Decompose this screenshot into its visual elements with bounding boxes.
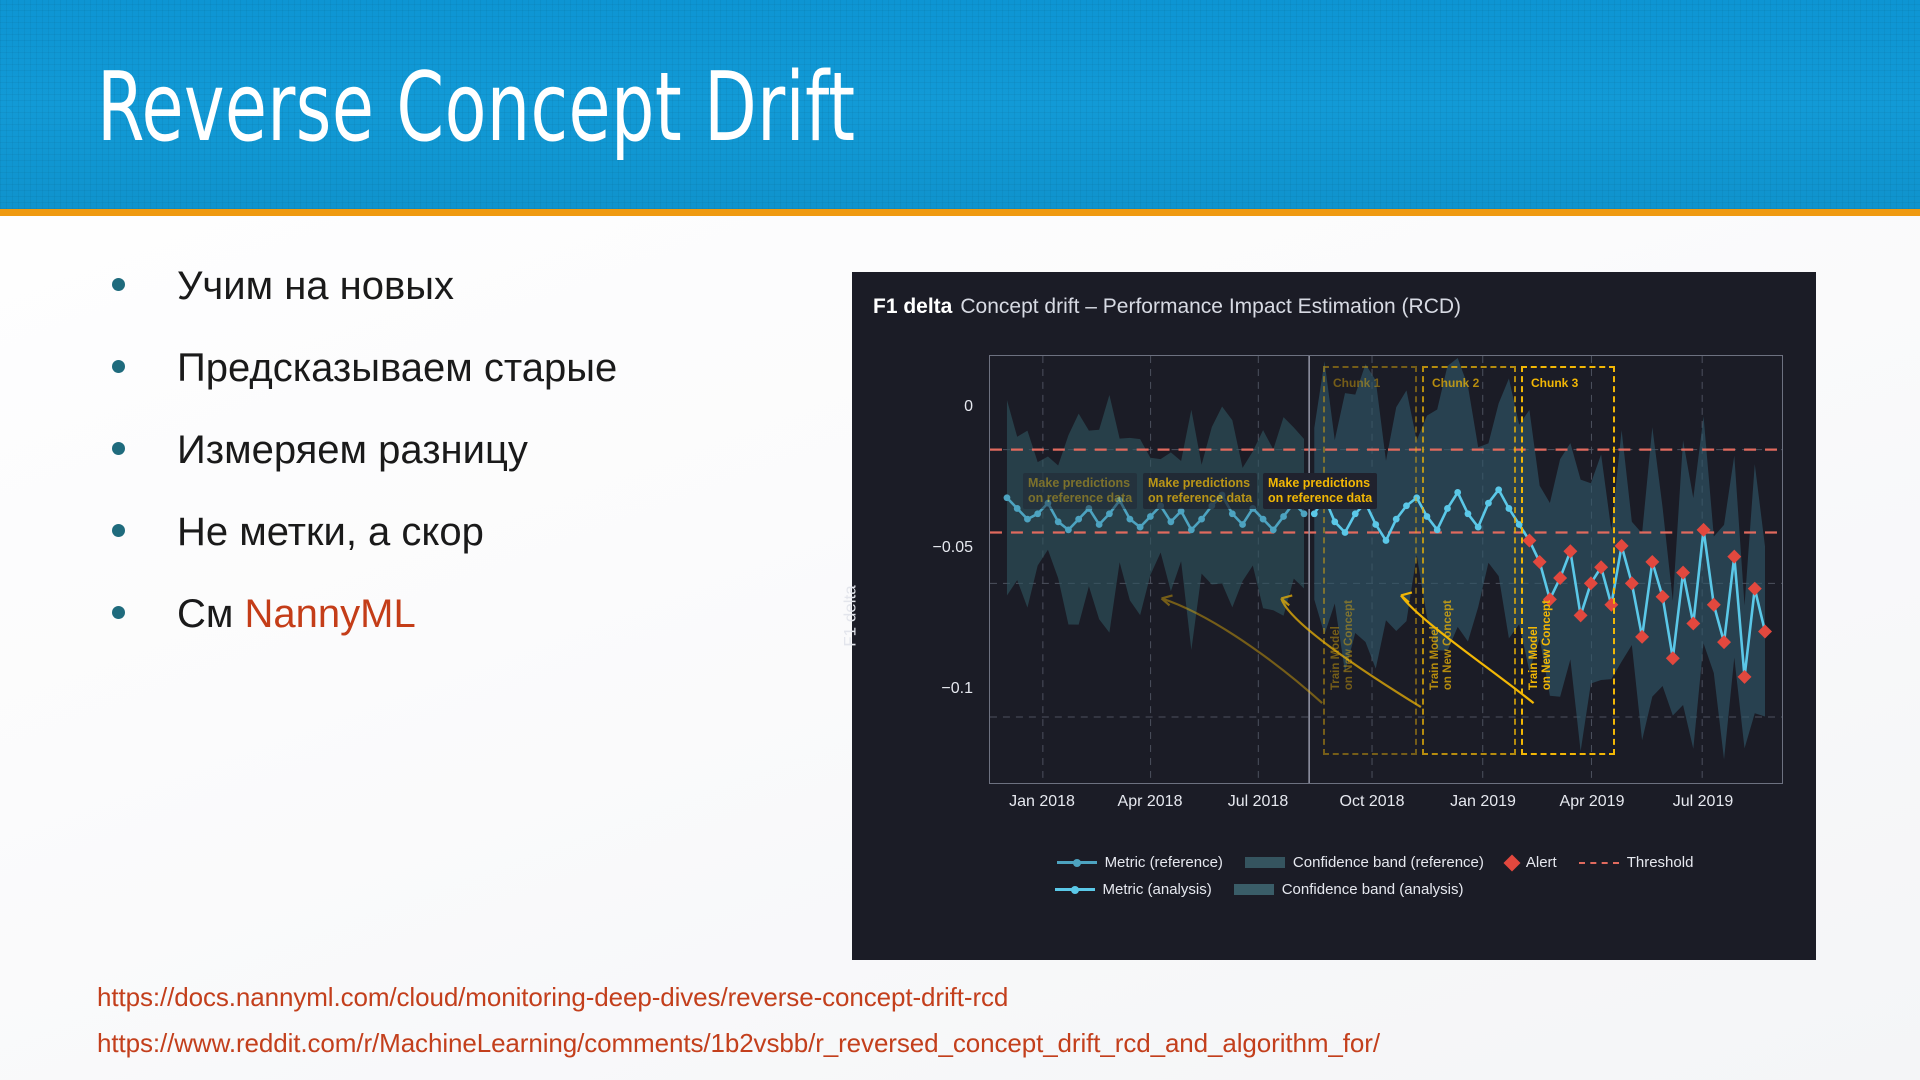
legend-item-metric-reference[interactable]: Metric (reference) xyxy=(1057,854,1223,871)
annotation-line2: on New Concept xyxy=(1541,600,1553,690)
list-item: Измеряем разницу xyxy=(112,426,832,508)
annotation-line1: Train Model xyxy=(1528,626,1540,690)
y-tick-label: −0.1 xyxy=(941,680,973,698)
chart-subtitle: Concept drift – Performance Impact Estim… xyxy=(960,295,1461,318)
list-item: Предсказываем старые xyxy=(112,344,832,426)
x-tick-label: Apr 2019 xyxy=(1560,793,1625,811)
legend-label: Threshold xyxy=(1627,854,1694,871)
legend-label: Metric (reference) xyxy=(1105,854,1223,871)
header-accent-rule xyxy=(0,209,1920,216)
annotation-line1: Make predictions xyxy=(1148,476,1252,491)
make-predictions-annotation: Make predictions on reference data xyxy=(1143,473,1257,509)
bullet-text: Измеряем разницу xyxy=(177,426,528,474)
train-model-annotation: Train Modelon New Concept xyxy=(1528,600,1554,690)
x-tick-label: Jul 2019 xyxy=(1673,793,1734,811)
bullet-text: См NannyML xyxy=(177,590,416,638)
annotation-line2: on reference data xyxy=(1268,491,1372,506)
annotation-line2: on reference data xyxy=(1028,491,1132,506)
chunk-label: Chunk 2 xyxy=(1432,376,1479,390)
slide-header: Reverse Concept Drift xyxy=(0,0,1920,209)
bullet-text: Не метки, а скор xyxy=(177,508,484,556)
annotation-line1: Train Model xyxy=(1429,626,1441,690)
chart-legend: Metric (reference) Confidence band (refe… xyxy=(989,849,1783,903)
plot-area: Chunk 1 Chunk 2 Chunk 3 Make predictions… xyxy=(989,355,1783,784)
chunk-label: Chunk 3 xyxy=(1531,376,1578,390)
annotation-line1: Train Model xyxy=(1330,626,1342,690)
legend-label: Confidence band (analysis) xyxy=(1282,881,1464,898)
annotation-line1: Make predictions xyxy=(1028,476,1132,491)
chunk-box xyxy=(1422,366,1516,755)
y-tick-label: 0 xyxy=(964,398,973,416)
band-swatch-icon xyxy=(1234,884,1274,895)
y-axis-label: F1 delta xyxy=(841,585,861,646)
bullet-prefix: См xyxy=(177,592,245,636)
bullet-text: Предсказываем старые xyxy=(177,344,617,392)
annotation-line2: on reference data xyxy=(1148,491,1252,506)
legend-label: Confidence band (reference) xyxy=(1293,854,1484,871)
bullet-dot-icon xyxy=(112,524,125,537)
x-tick-label: Jan 2019 xyxy=(1450,793,1516,811)
chart-metric-name: F1 delta xyxy=(873,295,952,318)
legend-label: Metric (analysis) xyxy=(1103,881,1212,898)
legend-item-band-reference[interactable]: Confidence band (reference) xyxy=(1245,854,1484,871)
reddit-link[interactable]: https://www.reddit.com/r/MachineLearning… xyxy=(97,1020,1380,1066)
make-predictions-annotation: Make predictions on reference data xyxy=(1023,473,1137,509)
list-item: Не метки, а скор xyxy=(112,508,832,590)
chunk-box xyxy=(1521,366,1615,755)
chart-panel: F1 deltaConcept drift – Performance Impa… xyxy=(852,272,1816,960)
chart-title: F1 deltaConcept drift – Performance Impa… xyxy=(873,295,1461,319)
dashed-line-icon xyxy=(1579,862,1619,864)
bullet-dot-icon xyxy=(112,442,125,455)
chunk-box xyxy=(1323,366,1417,755)
train-model-annotation: Train Modelon New Concept xyxy=(1429,600,1455,690)
page-title: Reverse Concept Drift xyxy=(97,56,855,160)
y-tick-label: −0.05 xyxy=(933,539,973,557)
line-swatch-icon xyxy=(1055,888,1095,891)
x-tick-label: Jul 2018 xyxy=(1228,793,1289,811)
bullet-dot-icon xyxy=(112,606,125,619)
x-tick-label: Oct 2018 xyxy=(1340,793,1405,811)
bullet-dot-icon xyxy=(112,278,125,291)
doc-link[interactable]: https://docs.nannyml.com/cloud/monitorin… xyxy=(97,974,1380,1020)
annotation-line2: on New Concept xyxy=(1442,600,1454,690)
reference-links: https://docs.nannyml.com/cloud/monitorin… xyxy=(97,974,1380,1066)
bullet-dot-icon xyxy=(112,360,125,373)
train-model-annotation: Train Modelon New Concept xyxy=(1330,600,1356,690)
x-tick-label: Jan 2018 xyxy=(1009,793,1075,811)
legend-item-threshold[interactable]: Threshold xyxy=(1579,854,1694,871)
legend-row: Metric (analysis) Confidence band (analy… xyxy=(989,876,1783,903)
band-swatch-icon xyxy=(1245,857,1285,868)
slide: Reverse Concept Drift Учим на новых Пред… xyxy=(0,0,1920,1080)
legend-item-metric-analysis[interactable]: Metric (analysis) xyxy=(1055,881,1212,898)
nannyml-link[interactable]: NannyML xyxy=(245,592,416,636)
legend-label: Alert xyxy=(1526,854,1557,871)
list-item-nannyml: См NannyML xyxy=(112,590,832,672)
bullet-text: Учим на новых xyxy=(177,262,454,310)
annotation-line1: Make predictions xyxy=(1268,476,1372,491)
legend-item-alert[interactable]: Alert xyxy=(1506,854,1557,871)
make-predictions-annotation: Make predictions on reference data xyxy=(1263,473,1377,509)
list-item: Учим на новых xyxy=(112,262,832,344)
alert-diamond-icon xyxy=(1503,854,1520,871)
annotation-line2: on New Concept xyxy=(1343,600,1355,690)
bullet-list: Учим на новых Предсказываем старые Измер… xyxy=(112,262,832,672)
x-tick-label: Apr 2018 xyxy=(1118,793,1183,811)
legend-item-band-analysis[interactable]: Confidence band (analysis) xyxy=(1234,881,1464,898)
chunk-label: Chunk 1 xyxy=(1333,376,1380,390)
legend-row: Metric (reference) Confidence band (refe… xyxy=(989,849,1783,876)
line-swatch-icon xyxy=(1057,861,1097,864)
